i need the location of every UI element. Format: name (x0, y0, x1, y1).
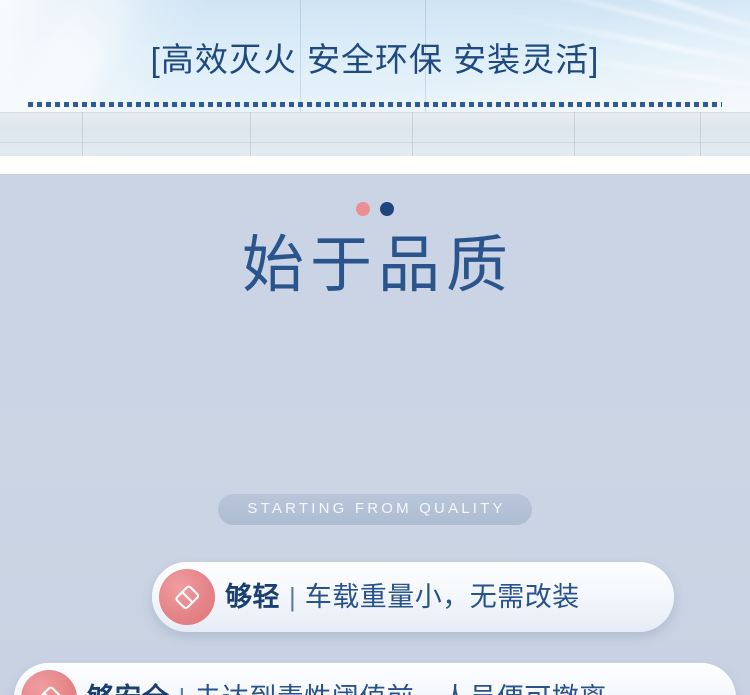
pavement-grout-line (412, 112, 413, 156)
decorative-dots (0, 202, 750, 216)
pavement-grout-line (82, 112, 83, 156)
feature-separator: | (179, 681, 186, 695)
dot-pink-icon (356, 202, 370, 216)
hero-banner: [高效灭火 安全环保 安装灵活] (0, 0, 750, 156)
feature-pill-safe[interactable]: 够安全 | 未达到毒性阈值前，人员便可撤离 (14, 663, 736, 695)
feature-text: 够安全 | 未达到毒性阈值前，人员便可撤离 (87, 681, 607, 695)
dot-navy-icon (380, 202, 394, 216)
feature-key: 够安全 (87, 681, 170, 695)
feature-desc: 未达到毒性阈值前，人员便可撤离 (194, 681, 607, 695)
pavement-grout-line (700, 112, 701, 156)
section-gap (0, 156, 750, 174)
eraser-icon (21, 670, 77, 695)
dotted-divider-icon (28, 102, 722, 107)
hero-pavement-background (0, 112, 750, 156)
quality-section: 始于品质 STARTING FROM QUALITY 够轻 | 车载重量小，无需… (0, 174, 750, 695)
quality-subtitle-badge: STARTING FROM QUALITY (218, 494, 532, 525)
eraser-icon (159, 569, 215, 625)
feature-separator: | (289, 580, 296, 614)
feature-key: 够轻 (225, 580, 280, 614)
pavement-grout-line (0, 112, 750, 113)
feature-pill-light[interactable]: 够轻 | 车载重量小，无需改装 (152, 562, 674, 632)
feature-text: 够轻 | 车载重量小，无需改装 (225, 580, 580, 614)
quality-subtitle-wrap: STARTING FROM QUALITY (0, 494, 750, 525)
feature-desc: 车载重量小，无需改装 (305, 580, 580, 614)
pavement-grout-line (0, 142, 750, 143)
hero-title: [高效灭火 安全环保 安装灵活] (0, 40, 750, 80)
pavement-grout-line (250, 112, 251, 156)
pavement-grout-line (574, 112, 575, 156)
quality-heading: 始于品质 (0, 228, 750, 304)
